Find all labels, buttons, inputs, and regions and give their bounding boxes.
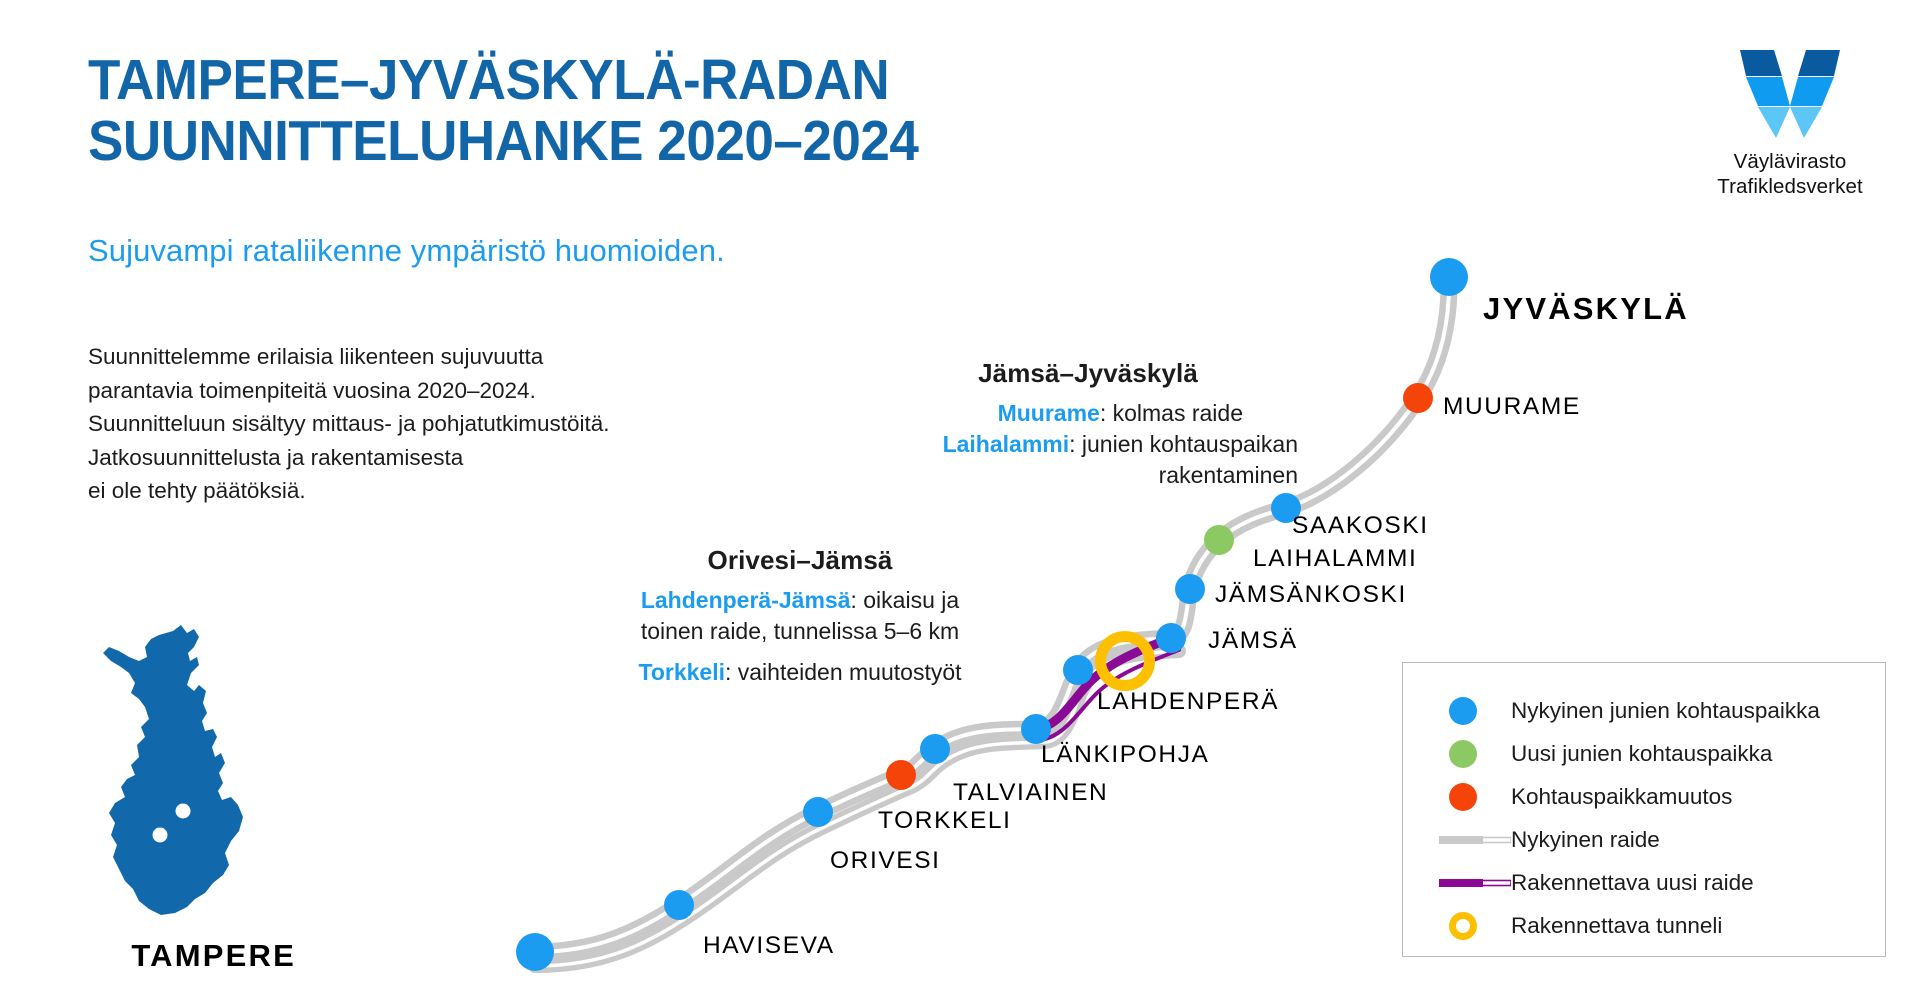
legend-label: Kohtauspaikkamuutos xyxy=(1511,784,1732,810)
annotation-place: Torkkeli xyxy=(638,659,725,685)
station-dot-orivesi[interactable] xyxy=(803,797,833,827)
legend-dot-icon xyxy=(1449,783,1477,811)
legend-swatch-dot xyxy=(1439,697,1511,725)
annotation-row: Laihalammi: junien kohtauspaikan rakenta… xyxy=(878,429,1298,491)
station-dot-torkkeli[interactable] xyxy=(886,760,916,790)
annotation-jamsa-jyvaskyla: Jämsä–Jyväskylä Muurame: kolmas raide La… xyxy=(878,358,1298,491)
vaylavirasto-logo: Väylävirasto Trafikledsverket xyxy=(1700,48,1880,199)
station-label-muurame: MUURAME xyxy=(1443,393,1581,421)
station-label-torkkeli: TORKKELI xyxy=(878,807,1012,835)
legend-label: Nykyinen raide xyxy=(1511,827,1660,853)
station-dot-jyväskylä[interactable] xyxy=(1430,258,1468,296)
station-dot-jämsä[interactable] xyxy=(1156,623,1186,653)
finland-silhouette-icon xyxy=(95,595,315,920)
vaylavirasto-v-mark xyxy=(1738,48,1842,140)
station-label-haviseva: HAVISEVA xyxy=(703,932,835,960)
legend-line-icon xyxy=(1439,833,1511,847)
annotation-text: : kolmas raide xyxy=(1100,400,1243,426)
legend-row: Rakennettava uusi raide xyxy=(1403,861,1885,904)
legend-row: Uusi junien kohtauspaikka xyxy=(1403,732,1885,775)
legend-label: Rakennettava tunneli xyxy=(1511,913,1722,939)
station-dot-muurame[interactable] xyxy=(1403,383,1433,413)
legend-swatch-dot xyxy=(1439,783,1511,811)
station-dot-jämsänkoski[interactable] xyxy=(1175,574,1205,604)
legend-swatch-dot xyxy=(1439,740,1511,768)
legend-label: Rakennettava uusi raide xyxy=(1511,870,1754,896)
legend-swatch-ring xyxy=(1439,912,1511,940)
station-label-saakoski: SAAKOSKI xyxy=(1292,512,1429,540)
annotation-row: Torkkeli: vaihteiden muutostyöt xyxy=(575,657,1025,688)
annotation-heading: Jämsä–Jyväskylä xyxy=(878,358,1298,389)
legend-row: Nykyinen raide xyxy=(1403,818,1885,861)
legend-ring-icon xyxy=(1449,912,1477,940)
station-label-talviainen: TALVIAINEN xyxy=(953,779,1108,807)
annotation-orivesi-jamsa: Orivesi–Jämsä Lahdenperä-Jämsä: oikaisu … xyxy=(575,545,1025,688)
annotation-heading: Orivesi–Jämsä xyxy=(575,545,1025,576)
annotation-place: Muurame xyxy=(998,400,1100,426)
legend-items: Nykyinen junien kohtauspaikkaUusi junien… xyxy=(1403,663,1885,947)
annotation-text: : vaihteiden muutostyöt xyxy=(725,659,962,685)
station-label-orivesi: ORIVESI xyxy=(830,847,941,875)
station-dot-tampere[interactable] xyxy=(516,933,554,971)
station-dot-laihalammi[interactable] xyxy=(1204,525,1234,555)
station-label-tampere: TAMPERE xyxy=(0,938,296,974)
legend-panel: Nykyinen junien kohtauspaikkaUusi junien… xyxy=(1402,662,1886,957)
station-label-jyväskylä: JYVÄSKYLÄ xyxy=(1483,291,1689,327)
finland-map xyxy=(95,595,315,925)
annotation-row: Lahdenperä-Jämsä: oikaisu ja toinen raid… xyxy=(575,585,1025,647)
station-dot-talviainen[interactable] xyxy=(920,734,950,764)
page-title: TAMPERE–JYVÄSKYLÄ-RADAN SUUNNITTELUHANKE… xyxy=(88,50,1185,172)
page-subtitle: Sujuvampi rataliikenne ympäristö huomioi… xyxy=(88,233,725,269)
annotation-text: : junien kohtauspaikan rakentaminen xyxy=(1069,431,1298,488)
legend-dot-icon xyxy=(1449,697,1477,725)
legend-swatch-line xyxy=(1439,833,1511,847)
legend-row: Rakennettava tunneli xyxy=(1403,904,1885,947)
logo-text: Väylävirasto Trafikledsverket xyxy=(1700,149,1880,199)
legend-line-icon xyxy=(1439,876,1511,890)
station-dot-haviseva[interactable] xyxy=(664,890,694,920)
legend-row: Kohtauspaikkamuutos xyxy=(1403,775,1885,818)
station-dot-länkipohja[interactable] xyxy=(1021,714,1051,744)
legend-label: Uusi junien kohtauspaikka xyxy=(1511,741,1772,767)
tunnel-marker xyxy=(1101,637,1150,686)
station-label-laihalammi: LAIHALAMMI xyxy=(1253,545,1417,573)
finland-dot-tampere xyxy=(153,828,168,843)
legend-swatch-line xyxy=(1439,876,1511,890)
legend-row: Nykyinen junien kohtauspaikka xyxy=(1403,689,1885,732)
legend-label: Nykyinen junien kohtauspaikka xyxy=(1511,698,1820,724)
station-dot-lahdenperä[interactable] xyxy=(1063,655,1093,685)
annotation-place: Lahdenperä-Jämsä xyxy=(641,587,851,613)
intro-paragraph: Suunnittelemme erilaisia liikenteen suju… xyxy=(88,340,728,508)
annotation-place: Laihalammi xyxy=(943,431,1070,457)
station-label-jämsänkoski: JÄMSÄNKOSKI xyxy=(1215,581,1407,609)
finland-dot-jyvaskyla xyxy=(176,804,191,819)
annotation-row: Muurame: kolmas raide xyxy=(878,398,1298,429)
legend-dot-icon xyxy=(1449,740,1477,768)
station-label-länkipohja: LÄNKIPOHJA xyxy=(1041,741,1210,769)
infographic-canvas: TAMPERE–JYVÄSKYLÄ-RADAN SUUNNITTELUHANKE… xyxy=(0,0,1920,1005)
station-label-jämsä: JÄMSÄ xyxy=(1208,627,1298,655)
station-label-lahdenperä: LAHDENPERÄ xyxy=(1097,688,1279,716)
